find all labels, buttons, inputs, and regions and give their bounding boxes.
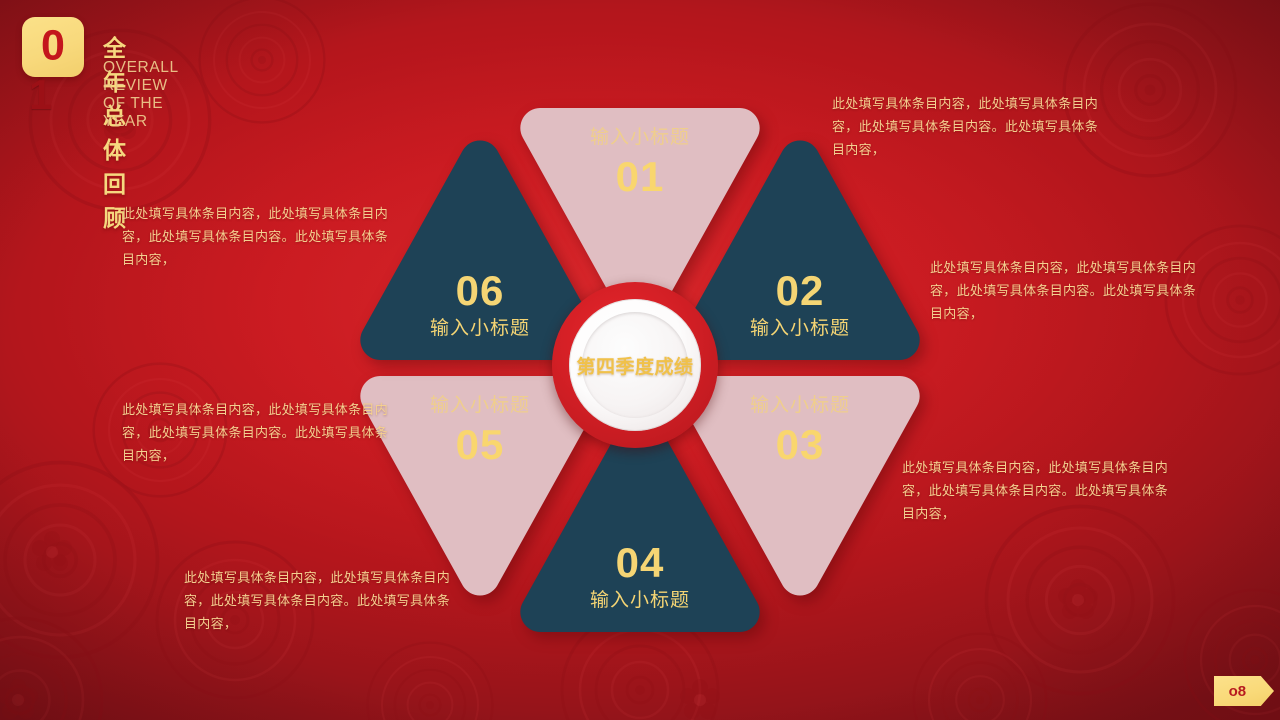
center-label: 第四季度成绩: [576, 352, 693, 379]
section-number-zero: 0: [22, 25, 84, 68]
page-number-tag: o8: [1214, 676, 1274, 706]
section-number-badge: 0: [22, 17, 84, 77]
center-disc: 第四季度成绩: [569, 299, 701, 431]
note-01: 此处填写具体条目内容，此处填写具体条目内容，此处填写具体条目内容。此处填写具体条…: [832, 92, 1100, 161]
segment-02[interactable]: 02 输入小标题: [676, 128, 924, 364]
note-02: 此处填写具体条目内容，此处填写具体条目内容，此处填写具体条目内容。此处填写具体条…: [930, 256, 1198, 325]
center-medallion[interactable]: 第四季度成绩: [552, 282, 718, 448]
page-number: o8: [1214, 684, 1261, 699]
note-05: 此处填写具体条目内容，此处填写具体条目内容，此处填写具体条目内容。此处填写具体条…: [122, 398, 390, 467]
section-number-one: 1: [29, 74, 52, 116]
slide: 0 1 全年总体回顾 OVERALL REVIEW OF THE YEAR 输入…: [0, 0, 1280, 720]
note-06: 此处填写具体条目内容，此处填写具体条目内容，此处填写具体条目内容。此处填写具体条…: [122, 202, 390, 271]
page-subtitle: OVERALL REVIEW OF THE YEAR: [103, 59, 178, 131]
note-04: 此处填写具体条目内容，此处填写具体条目内容，此处填写具体条目内容。此处填写具体条…: [184, 566, 452, 635]
note-03: 此处填写具体条目内容，此处填写具体条目内容，此处填写具体条目内容。此处填写具体条…: [902, 456, 1170, 525]
